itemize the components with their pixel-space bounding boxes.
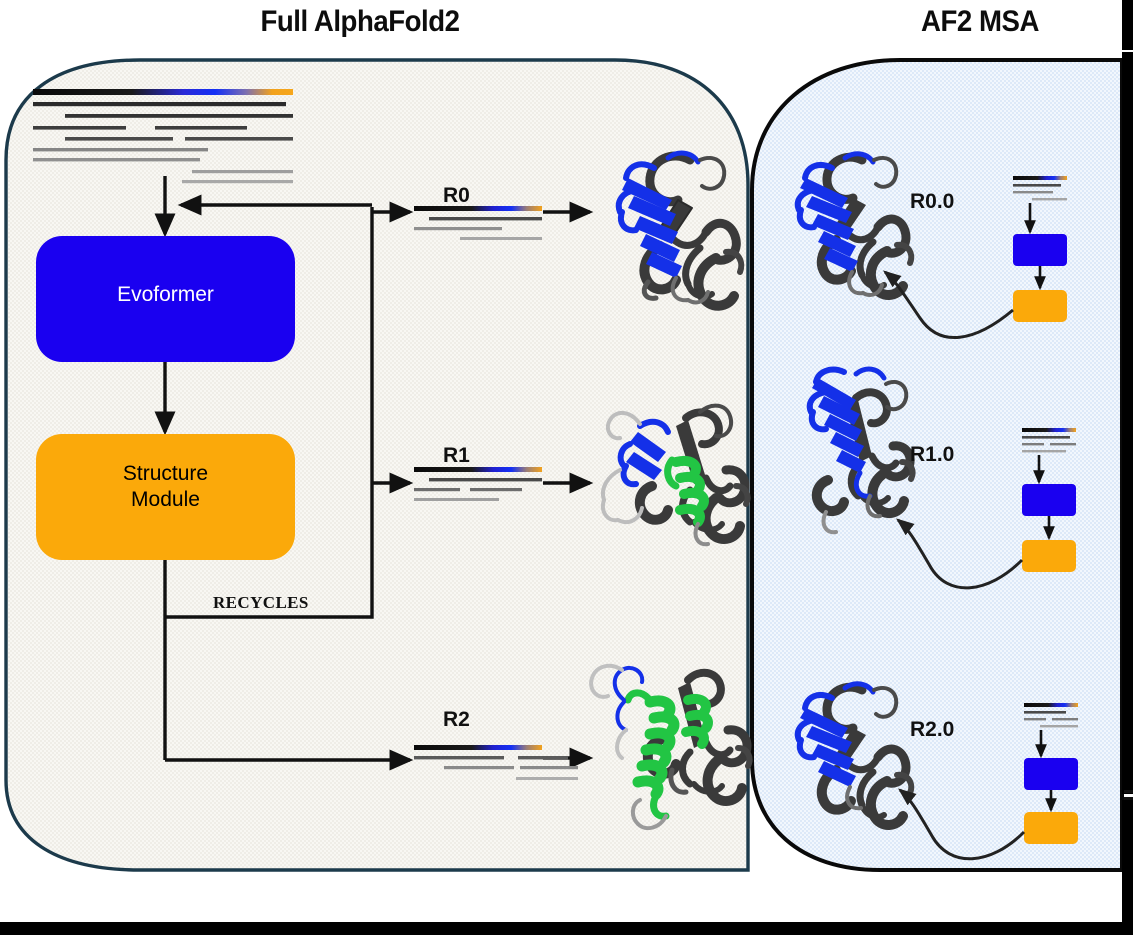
evoformer-box[interactable] bbox=[36, 236, 295, 362]
recycles-label: RECYCLES bbox=[213, 593, 309, 613]
panel-title-full-alphafold2: Full AlphaFold2 bbox=[190, 5, 530, 39]
diagram-svg bbox=[0, 0, 1133, 935]
edge-tick-a bbox=[1124, 790, 1133, 793]
edge-strip-top bbox=[1122, 0, 1133, 50]
mini-evoformer-box-r0-0[interactable] bbox=[1013, 234, 1067, 266]
round-label-r1: R1 bbox=[443, 444, 470, 468]
round-label-r1-0: R1.0 bbox=[910, 443, 954, 467]
mini-evoformer-box-r1-0[interactable] bbox=[1022, 484, 1076, 516]
mini-msa-row bbox=[1013, 176, 1067, 180]
mini-structure-box-r2-0[interactable] bbox=[1024, 812, 1078, 844]
round-label-r2: R2 bbox=[443, 708, 470, 732]
panel-title-af2-msa: AF2 MSA bbox=[856, 5, 1104, 39]
mini-structure-box-r1-0[interactable] bbox=[1022, 540, 1076, 572]
mini-evoformer-box-r2-0[interactable] bbox=[1024, 758, 1078, 790]
round-label-r2-0: R2.0 bbox=[910, 718, 954, 742]
figure-canvas: Full AlphaFold2 AF2 MSA Evoformer Struct… bbox=[0, 0, 1133, 935]
edge-tick-b bbox=[1124, 797, 1133, 800]
structure-module-box[interactable] bbox=[36, 434, 295, 560]
round-label-r0-0: R0.0 bbox=[910, 190, 954, 214]
edge-strip-bottom bbox=[1122, 800, 1133, 935]
edge-strip-mid bbox=[1122, 52, 1133, 794]
mini-structure-box-r0-0[interactable] bbox=[1013, 290, 1067, 322]
round-label-r0: R0 bbox=[443, 184, 470, 208]
bottom-bar bbox=[0, 922, 1133, 935]
